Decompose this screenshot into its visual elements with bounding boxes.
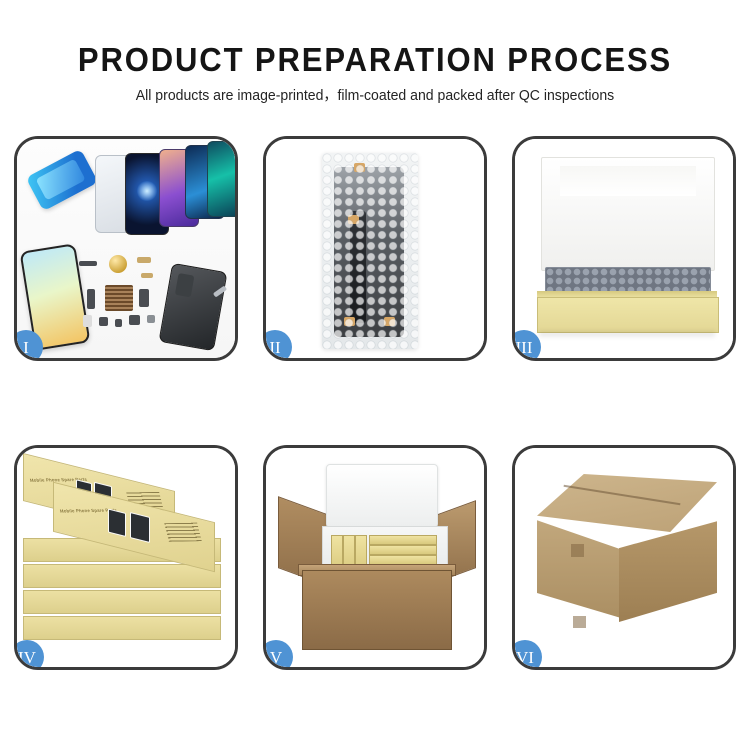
foam-cooler-lid [326,464,438,528]
step-badge-1: I [14,330,43,361]
carton-body [302,570,452,650]
process-step-panel-1: I [14,136,238,361]
step-2-photo [266,139,484,358]
step-4-photo: Mobile Phone Spare Parts Mobile Phone Sp… [17,448,235,667]
retail-box-window-4 [130,512,150,543]
speaker-component [109,255,127,273]
lid-top-fold [560,166,696,196]
page-subtitle: All products are image-printed，film-coat… [11,86,739,106]
process-step-panel-3: III [512,136,736,361]
part-flex-gold-2 [141,273,153,278]
bubble-texture [322,153,418,349]
page-header: PRODUCT PREPARATION PROCESS All products… [0,0,750,106]
part-screw [147,315,155,323]
packed-box-5 [369,545,437,555]
step-3-photo [515,139,733,358]
step-6-photo [515,448,733,667]
part-small-1 [99,317,108,326]
box-shadow [539,331,715,337]
process-step-panel-4: Mobile Phone Spare Parts Mobile Phone Sp… [14,445,238,670]
part-small-2 [115,319,122,327]
bubble-wrap-bag [322,153,418,349]
retail-box-specs-front [164,523,202,542]
part-flex-gold [137,257,151,263]
page-title: PRODUCT PREPARATION PROCESS [23,40,728,80]
box-white-lid [541,157,715,271]
process-step-grid: I II III [14,136,736,670]
process-step-panel-5: V [263,445,487,670]
process-step-panel-2: II [263,136,487,361]
packed-box-4 [369,535,437,545]
step-1-photo [17,139,235,358]
part-bracket-2 [139,289,149,307]
part-sim-tray [83,315,92,327]
step-badge-4: IV [14,640,44,670]
carton-tab-upper [571,544,584,557]
box-stack-tops: Mobile Phone Spare Parts Mobile Phone Sp… [23,472,233,652]
carton-tab-lower [573,616,586,628]
step-badge-2: II [263,330,292,361]
retail-box-window-3 [108,509,126,537]
part-small-3 [129,315,140,325]
chip-component [105,285,133,311]
step-badge-3: III [512,330,541,361]
step-5-photo [266,448,484,667]
part-bracket [87,289,95,309]
box-yellow-front [537,297,719,333]
part-strip [79,261,97,266]
phone-teal [207,141,235,217]
process-step-panel-6: VI [512,445,736,670]
step-badge-5: V [263,640,293,670]
step-badge-6: VI [512,640,542,670]
